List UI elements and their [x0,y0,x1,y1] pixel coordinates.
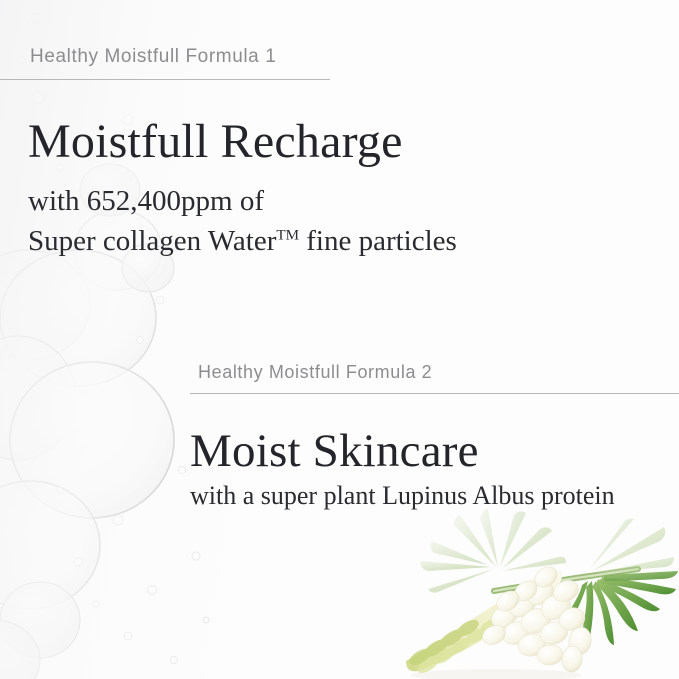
formula-2-divider [190,393,679,394]
formula-2-subline: with a super plant Lupinus Albus protein [190,481,615,511]
water-wash-gradient [0,0,240,679]
water-bubbles-illustration [0,0,260,679]
bubbles-svg [0,0,260,679]
formula-1-section: Healthy Moistfull Formula 1 [0,46,330,80]
formula-1-subline-line-1: with 652,400ppm of [28,182,457,222]
formula-2-section: Healthy Moistfull Formula 2 [190,362,679,394]
formula-1-headline: Moistfull Recharge [28,114,403,169]
formula-1-kicker: Healthy Moistfull Formula 1 [0,46,330,68]
formula-1-subline-line-2: Super collagen WaterTM fine particles [28,222,457,262]
formula-1-subline: with 652,400ppm of Super collagen WaterT… [28,182,457,261]
formula-2-divider-wrap [190,383,679,394]
lupinus-albus-flower-illustration [376,505,679,679]
formula-2-kicker: Healthy Moistfull Formula 2 [190,362,679,383]
fine-particles-label: fine particles [299,225,457,257]
lupine-svg [376,505,679,679]
formula-1-divider-wrap [0,68,330,80]
formula-1-divider [0,79,330,80]
formula-2-headline: Moist Skincare [190,424,479,478]
collagen-water-label: Super collagen Water [28,225,276,257]
product-feature-banner: Healthy Moistfull Formula 1 Moistfull Re… [0,0,679,679]
trademark-mark: TM [276,227,299,243]
